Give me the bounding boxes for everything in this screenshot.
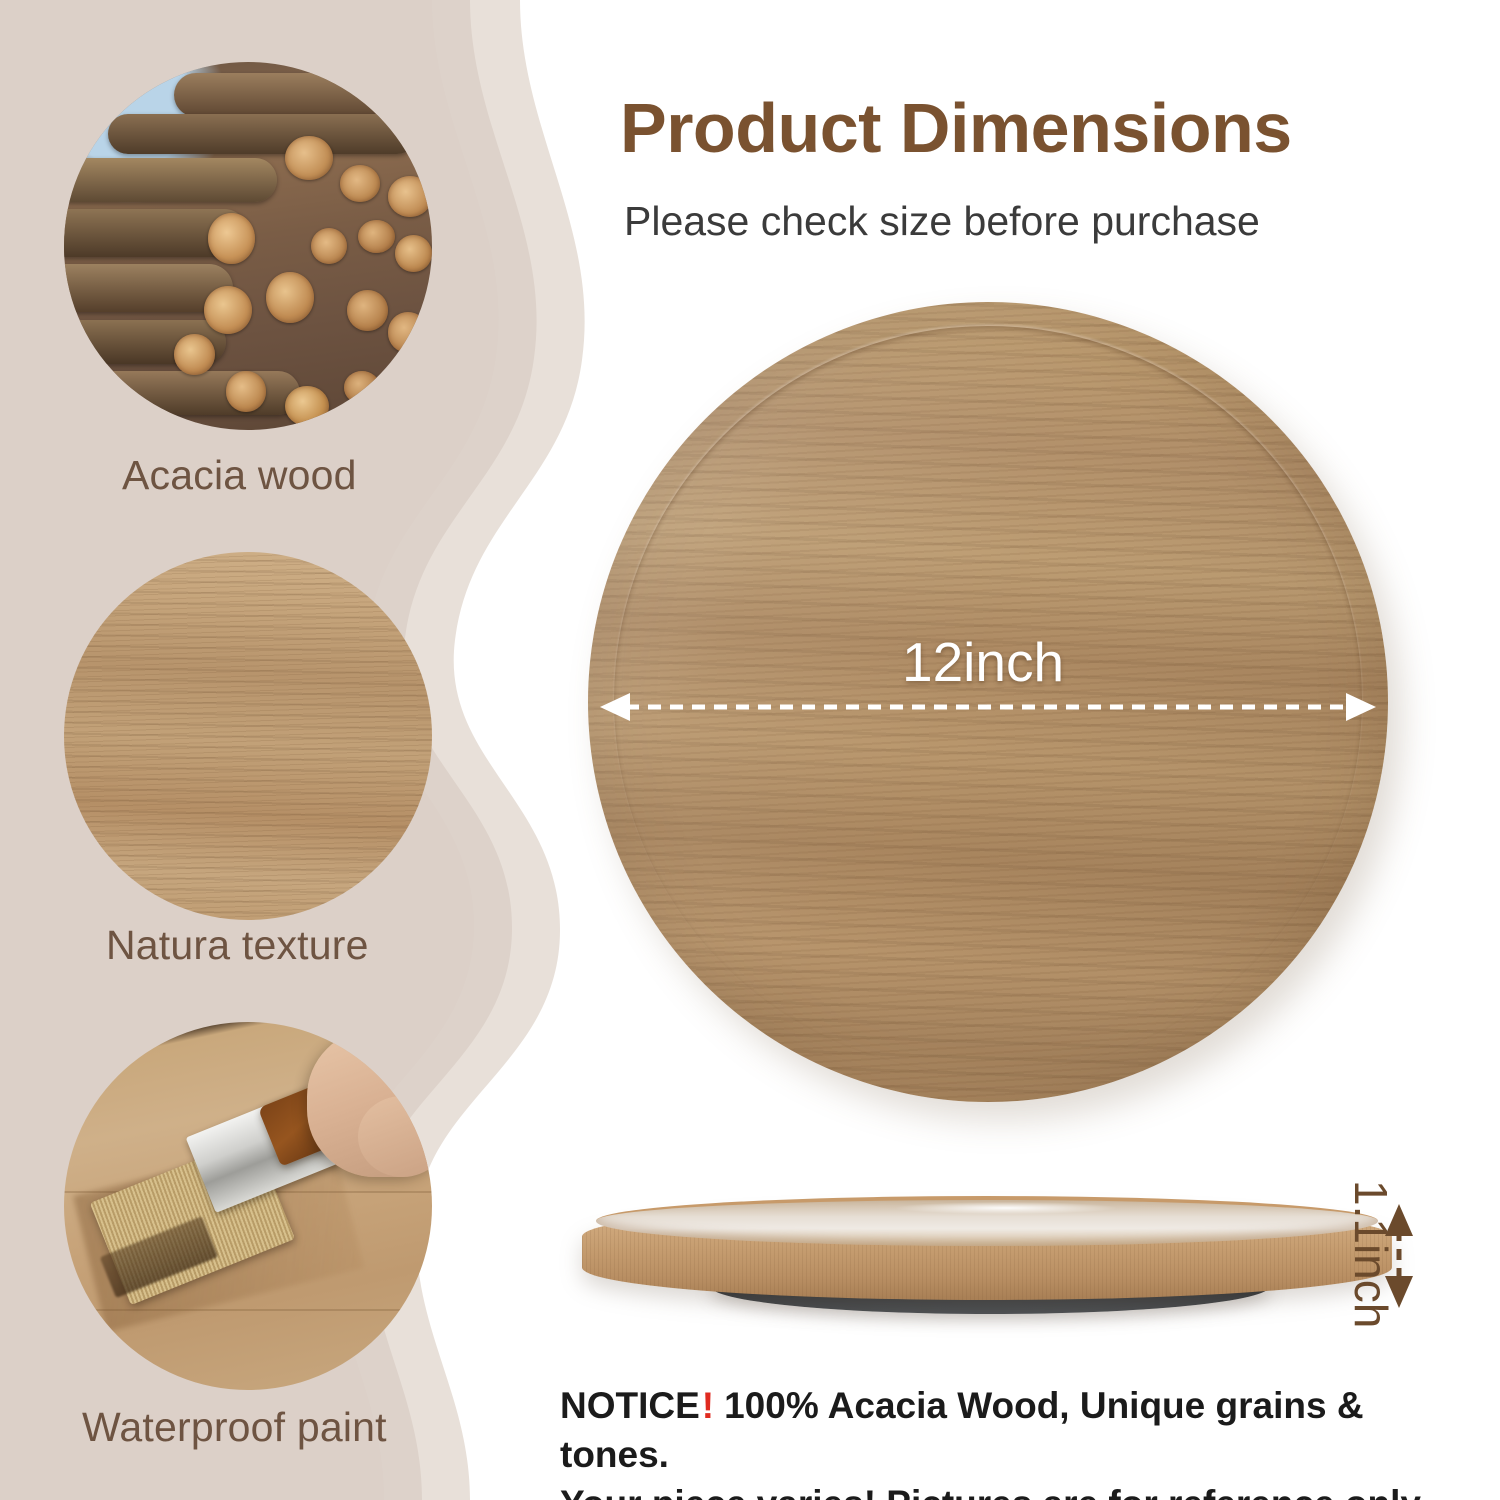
- notice-exclamation-icon: !: [700, 1385, 724, 1426]
- page-title: Product Dimensions: [620, 88, 1292, 168]
- feature-label-acacia-wood: Acacia wood: [122, 452, 357, 499]
- product-side-view: [582, 1196, 1392, 1331]
- notice-line-2: Your piece varies! Pictures are for refe…: [560, 1480, 1460, 1500]
- feature-label-waterproof-paint: Waterproof paint: [82, 1404, 387, 1451]
- notice-prefix: NOTICE: [560, 1385, 700, 1426]
- diameter-label: 12inch: [902, 630, 1064, 694]
- product-dimensions-infographic: Acacia wood Natura texture Waterproof pa…: [0, 0, 1500, 1500]
- feature-image-waterproof-paint: [64, 1022, 432, 1390]
- feature-image-natura-texture: [64, 552, 432, 920]
- feature-image-acacia-wood: [64, 62, 432, 430]
- thickness-label: 1.1inch: [1344, 1180, 1398, 1328]
- feature-label-natura-texture: Natura texture: [106, 922, 369, 969]
- tray-inner-surface: [596, 1196, 1378, 1246]
- diameter-dimension-arrow: [600, 690, 1376, 724]
- page-subtitle: Please check size before purchase: [624, 198, 1260, 245]
- rim-highlight: [896, 1202, 1116, 1214]
- notice-block: NOTICE!100% Acacia Wood, Unique grains &…: [560, 1382, 1460, 1500]
